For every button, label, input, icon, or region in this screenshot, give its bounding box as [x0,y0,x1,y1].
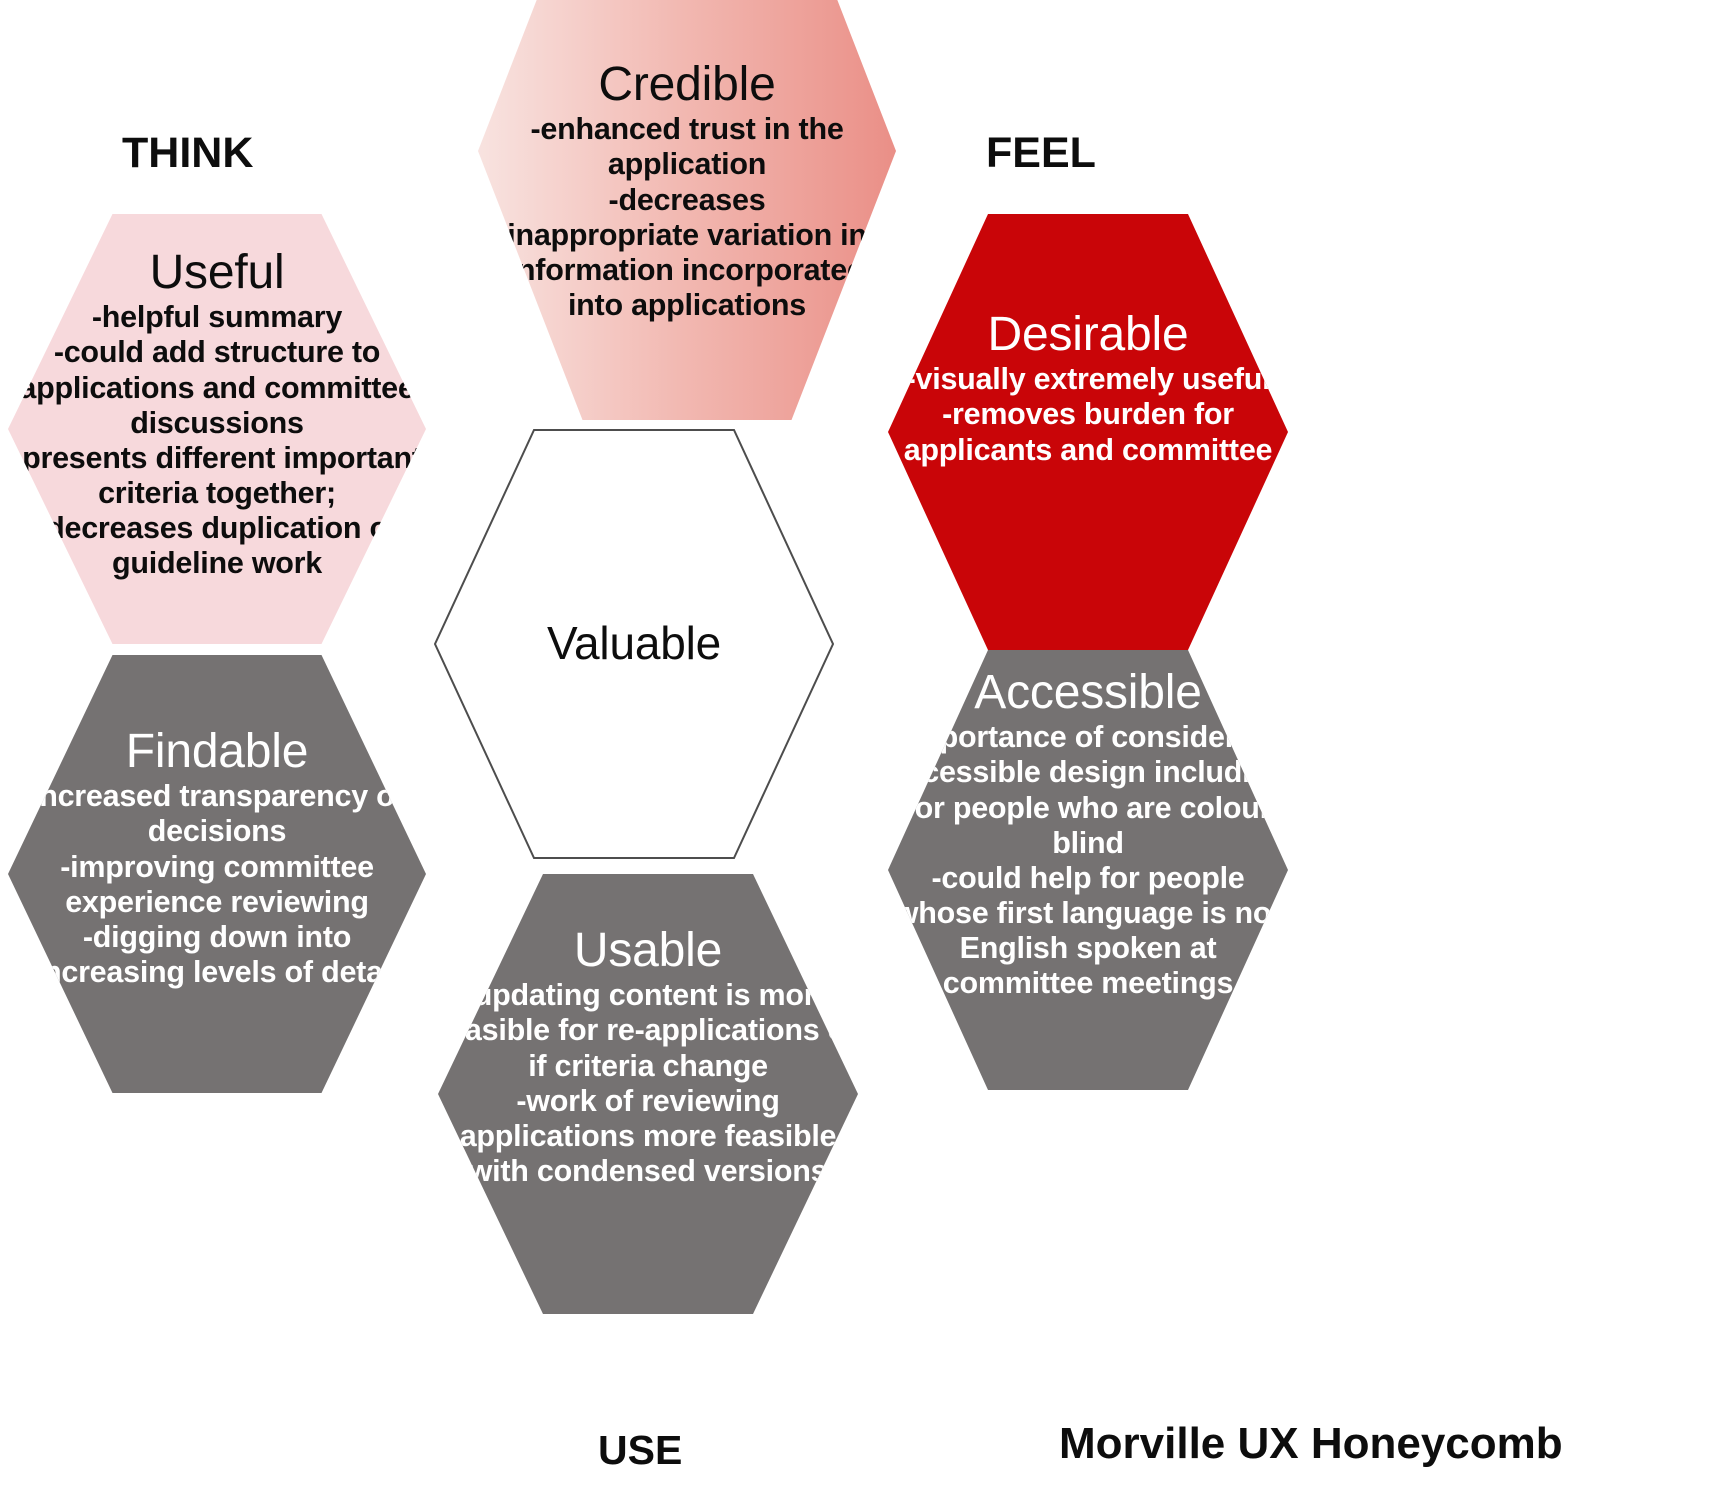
hex-body-useful: -helpful summary -could add structure to… [8,300,426,581]
hex-cell-findable[interactable]: Findable -Increased transparency on deci… [8,655,426,1093]
caption-think: THINK [122,129,253,178]
hex-title-usable: Usable [574,926,722,976]
hex-title-useful: Useful [150,248,285,298]
hex-cell-credible[interactable]: Credible -enhanced trust in the applicat… [478,0,896,420]
hex-title-accessible: Accessible [974,668,1201,718]
hex-body-desirable: -visually extremely useful -removes burd… [888,362,1288,467]
caption-source-label: Morville UX Honeycomb [1059,1419,1563,1469]
hex-body-findable: -Increased transparency on decisions -im… [8,779,426,989]
hex-cell-usable[interactable]: Usable -updating content is more feasibl… [438,874,858,1314]
hex-cell-useful[interactable]: Useful -helpful summary -could add struc… [8,214,426,644]
hex-title-desirable: Desirable [988,310,1189,360]
hex-title-valuable: Valuable [547,619,721,667]
honeycomb-diagram: Credible -enhanced trust in the applicat… [0,0,1721,1494]
hex-title-findable: Findable [126,727,309,777]
hex-cell-valuable[interactable]: Valuable [434,429,834,859]
hex-title-credible: Credible [598,60,775,110]
hex-cell-desirable[interactable]: Desirable -visually extremely useful -re… [888,214,1288,650]
caption-use: USE [598,1427,682,1474]
caption-feel: FEEL [986,129,1096,178]
hex-cell-accessible[interactable]: Accessible -importance of considering ac… [888,650,1288,1090]
hex-body-credible: -enhanced trust in the application -decr… [478,112,896,322]
hex-body-usable: -updating content is more feasible for r… [438,978,858,1188]
hex-body-accessible: -importance of considering accessible de… [888,720,1288,1001]
